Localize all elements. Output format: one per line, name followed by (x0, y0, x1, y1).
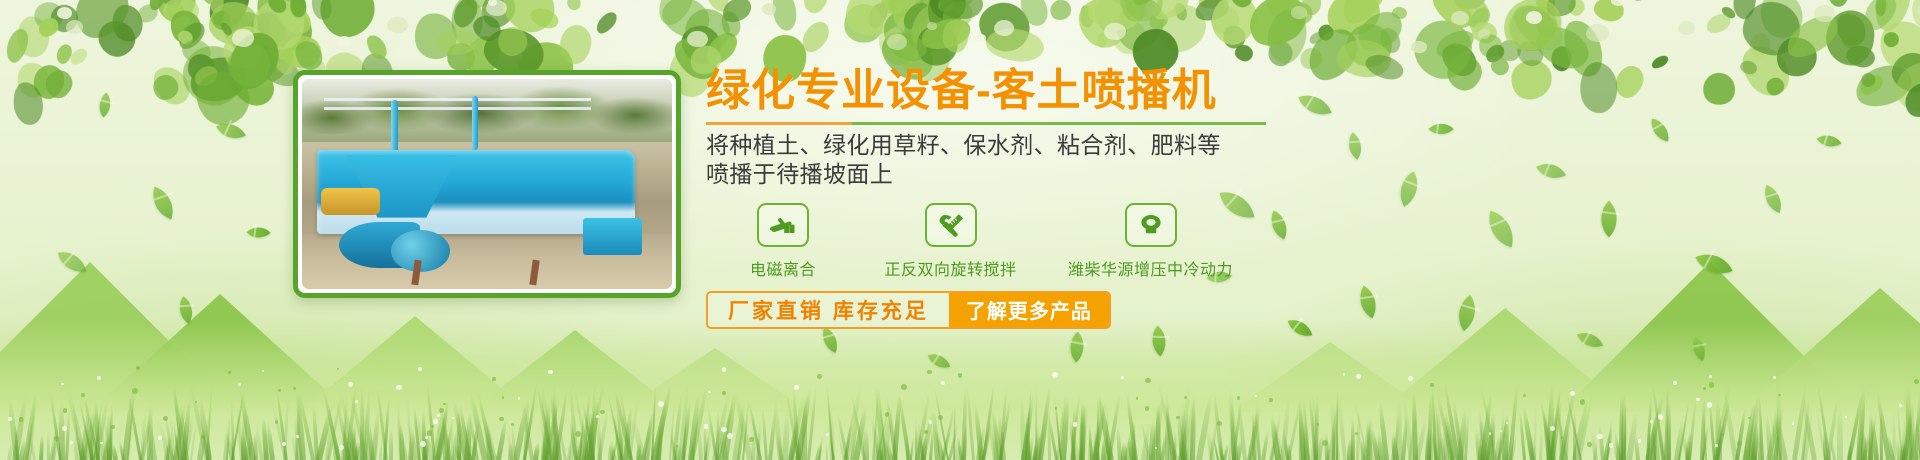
clutch-hand-icon (757, 203, 809, 247)
photo-railing (324, 98, 590, 101)
engine-power-icon (1125, 203, 1177, 247)
grass-blades (0, 340, 1920, 460)
cta-bar: 厂家直销 库存充足 了解更多产品 (706, 291, 1111, 329)
leaf-icon (1648, 118, 1671, 141)
leaf-icon (147, 187, 180, 220)
photo-control-box (583, 218, 642, 256)
photo-trees (302, 79, 672, 134)
wrench-screwdriver-icon (925, 203, 977, 247)
product-photo-frame[interactable] (293, 70, 681, 298)
leaf-icon (1341, 132, 1369, 160)
photo-tank (321, 188, 380, 215)
leaf-icon (1428, 116, 1453, 141)
subtitle-line-2: 喷播于待播坡面上 (706, 160, 1326, 189)
subtitle-line-1: 将种植土、绿化用草籽、保水剂、粘合剂、肥料等 (706, 131, 1326, 160)
leaf-icon (92, 92, 117, 117)
leaf-icon (1759, 185, 1787, 213)
product-photo (302, 79, 672, 289)
learn-more-button[interactable]: 了解更多产品 (949, 293, 1109, 327)
banner-content: 绿化专业设备-客土喷播机 将种植土、绿化用草籽、保水剂、粘合剂、肥料等 喷播于待… (706, 68, 1326, 329)
leaf-icon (216, 116, 246, 146)
leaf-icon (1391, 171, 1427, 207)
title-divider (706, 122, 1266, 125)
leaf-icon (1816, 128, 1841, 153)
feature-item-clutch[interactable]: 电磁离合 (708, 203, 858, 280)
feature-label: 潍柴华源增压中冷动力 (1043, 256, 1258, 280)
promo-banner: 绿化专业设备-客土喷播机 将种植土、绿化用草籽、保水剂、粘合剂、肥料等 喷播于待… (0, 0, 1920, 460)
leaf-icon (1536, 156, 1566, 186)
feature-item-mixing[interactable]: 正反双向旋转搅拌 (858, 203, 1043, 280)
feature-label: 电磁离合 (708, 256, 858, 280)
photo-pipe-right (472, 96, 478, 151)
feature-label: 正反双向旋转搅拌 (858, 256, 1043, 280)
page-title: 绿化专业设备-客土喷播机 (706, 68, 1326, 115)
feature-item-engine[interactable]: 潍柴华源增压中冷动力 (1043, 203, 1258, 280)
feature-list: 电磁离合 正反双向旋转搅拌 (706, 203, 1326, 280)
cta-slogan: 厂家直销 库存充足 (708, 293, 949, 327)
